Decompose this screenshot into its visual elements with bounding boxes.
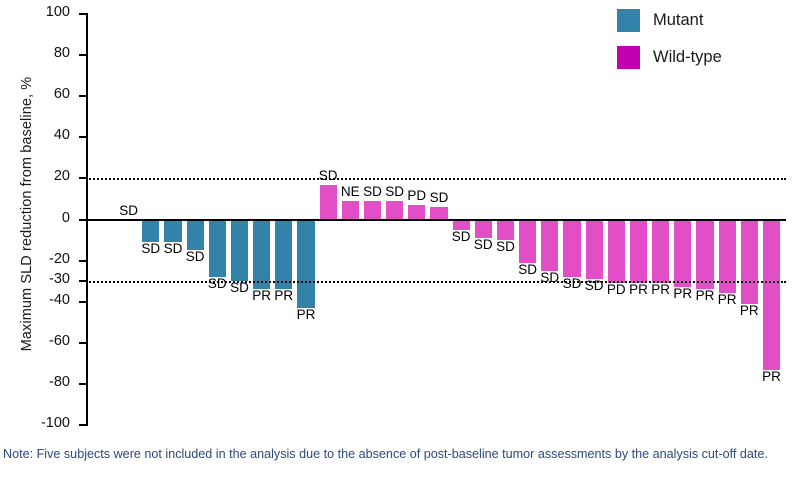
- bar-2: [142, 220, 159, 243]
- bar-30: [763, 220, 780, 370]
- bar-response-label: PR: [696, 288, 715, 303]
- legend-swatch-wild-type: [617, 46, 640, 69]
- bar-response-label: PR: [673, 286, 692, 301]
- bar-26: [674, 220, 691, 288]
- bar-response-label: SD: [496, 239, 515, 254]
- y-axis-tick-mark: [79, 280, 86, 282]
- figure-note: Note: Five subjects were not included in…: [3, 445, 795, 464]
- bar-response-label: SD: [563, 276, 582, 291]
- y-axis-tick-label: 100: [24, 4, 70, 20]
- bar-response-label: SD: [164, 241, 183, 256]
- legend-label-mutant: Mutant: [653, 11, 703, 30]
- legend-item-mutant: Mutant: [617, 9, 722, 32]
- bar-response-label: PR: [651, 282, 670, 297]
- bar-18: [497, 220, 514, 241]
- bar-response-label: SD: [430, 190, 449, 205]
- bar-8: [275, 220, 292, 290]
- bar-response-label: SD: [385, 184, 404, 199]
- bar-24: [630, 220, 647, 284]
- bar-23: [608, 220, 625, 284]
- bar-response-label: PR: [629, 282, 648, 297]
- y-axis-tick-label: 20: [24, 168, 70, 184]
- bar-response-label: SD: [208, 276, 227, 291]
- y-axis-tick-mark: [79, 177, 86, 179]
- legend-label-wild-type: Wild-type: [653, 48, 722, 67]
- bar-6: [231, 220, 248, 282]
- bar-11: [342, 201, 359, 219]
- bar-5: [209, 220, 226, 278]
- bar-response-label: SD: [363, 184, 382, 199]
- y-axis-tick-label: -100: [24, 415, 70, 431]
- y-axis-tick-label: -60: [24, 333, 70, 349]
- y-axis-tick-label: -40: [24, 292, 70, 308]
- waterfall-chart-figure: Maximum SLD reduction from baseline, % 1…: [0, 0, 801, 486]
- bar-response-label: PR: [740, 303, 759, 318]
- bar-response-label: PR: [274, 288, 293, 303]
- y-axis-tick-mark: [79, 219, 86, 221]
- y-axis-tick-mark: [79, 424, 86, 426]
- bar-13: [386, 201, 403, 219]
- reference-line: [86, 281, 786, 283]
- bar-21: [563, 220, 580, 278]
- y-axis-tick-mark: [79, 136, 86, 138]
- bar-response-label: SD: [474, 237, 493, 252]
- y-axis-tick-mark: [79, 95, 86, 97]
- y-axis-tick-mark: [79, 54, 86, 56]
- bar-19: [519, 220, 536, 263]
- bar-response-label: PD: [407, 188, 426, 203]
- zero-baseline: [86, 219, 786, 221]
- bar-25: [652, 220, 669, 284]
- bar-response-label: SD: [518, 262, 537, 277]
- bar-20: [541, 220, 558, 271]
- y-axis-tick-label: -80: [24, 374, 70, 390]
- y-axis-tick-mark: [79, 383, 86, 385]
- bar-12: [364, 201, 381, 219]
- bar-response-label: NE: [341, 184, 360, 199]
- bar-response-label: PR: [718, 292, 737, 307]
- y-axis-tick-mark: [79, 13, 86, 15]
- bar-3: [164, 220, 181, 243]
- bar-22: [586, 220, 603, 280]
- y-axis-tick-label: 60: [24, 86, 70, 102]
- bar-29: [741, 220, 758, 304]
- bar-response-label: SD: [186, 249, 205, 264]
- bar-7: [253, 220, 270, 290]
- bar-4: [187, 220, 204, 251]
- y-axis-tick-mark: [79, 260, 86, 262]
- legend-item-wild-type: Wild-type: [617, 46, 722, 69]
- y-axis-tick-label: -20: [24, 251, 70, 267]
- bar-response-label: PR: [297, 307, 316, 322]
- y-axis-tick-label: -30: [24, 271, 70, 287]
- legend-swatch-mutant: [617, 9, 640, 32]
- bar-response-label: SD: [119, 203, 138, 218]
- y-axis-tick-label: 80: [24, 45, 70, 61]
- y-axis-tick-label: 40: [24, 127, 70, 143]
- bar-response-label: PR: [762, 369, 781, 384]
- bar-response-label: SD: [452, 229, 471, 244]
- y-axis-tick-label: 0: [24, 210, 70, 226]
- bar-10: [320, 185, 337, 220]
- y-axis-tick-mark: [79, 342, 86, 344]
- bar-response-label: PD: [607, 282, 626, 297]
- reference-line: [86, 178, 786, 180]
- bar-17: [475, 220, 492, 238]
- bar-9: [297, 220, 314, 308]
- chart-legend: Mutant Wild-type: [617, 9, 722, 83]
- y-axis-tick-mark: [79, 301, 86, 303]
- bar-response-label: PR: [252, 288, 271, 303]
- bar-response-label: SD: [141, 241, 160, 256]
- bar-27: [696, 220, 713, 290]
- bar-14: [408, 205, 425, 219]
